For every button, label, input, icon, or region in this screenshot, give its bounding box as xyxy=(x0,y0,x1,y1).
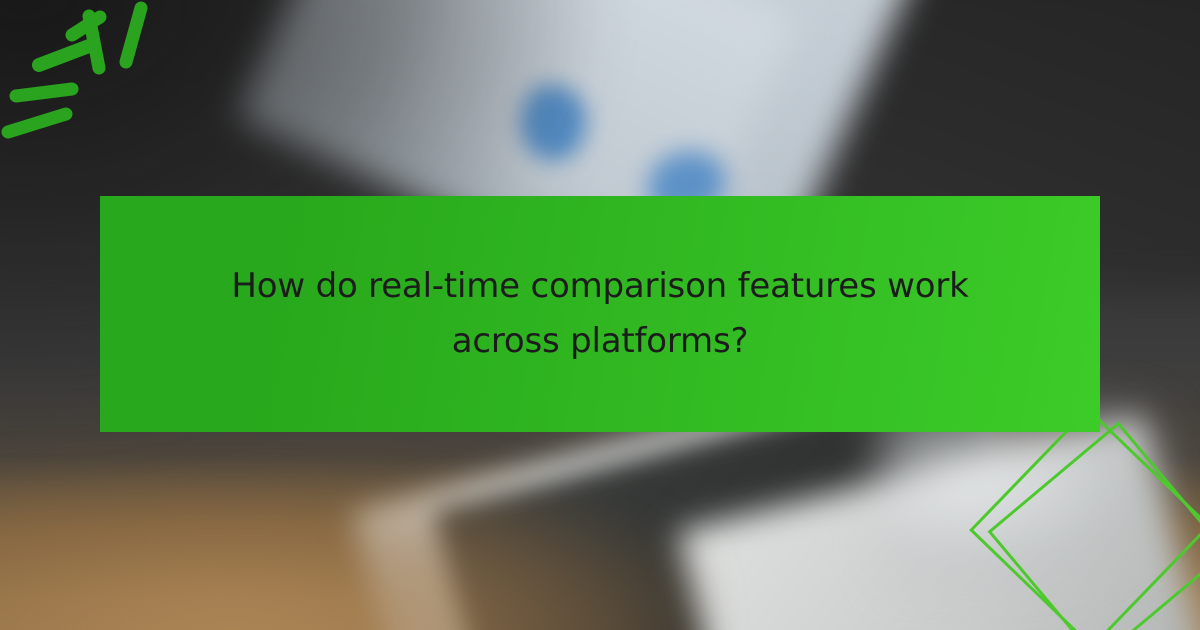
title-banner: How do real-time comparison features wor… xyxy=(100,196,1100,432)
background-wood-desk xyxy=(0,470,700,630)
social-card: How do real-time comparison features wor… xyxy=(0,0,1200,630)
page-title: How do real-time comparison features wor… xyxy=(160,259,1040,369)
